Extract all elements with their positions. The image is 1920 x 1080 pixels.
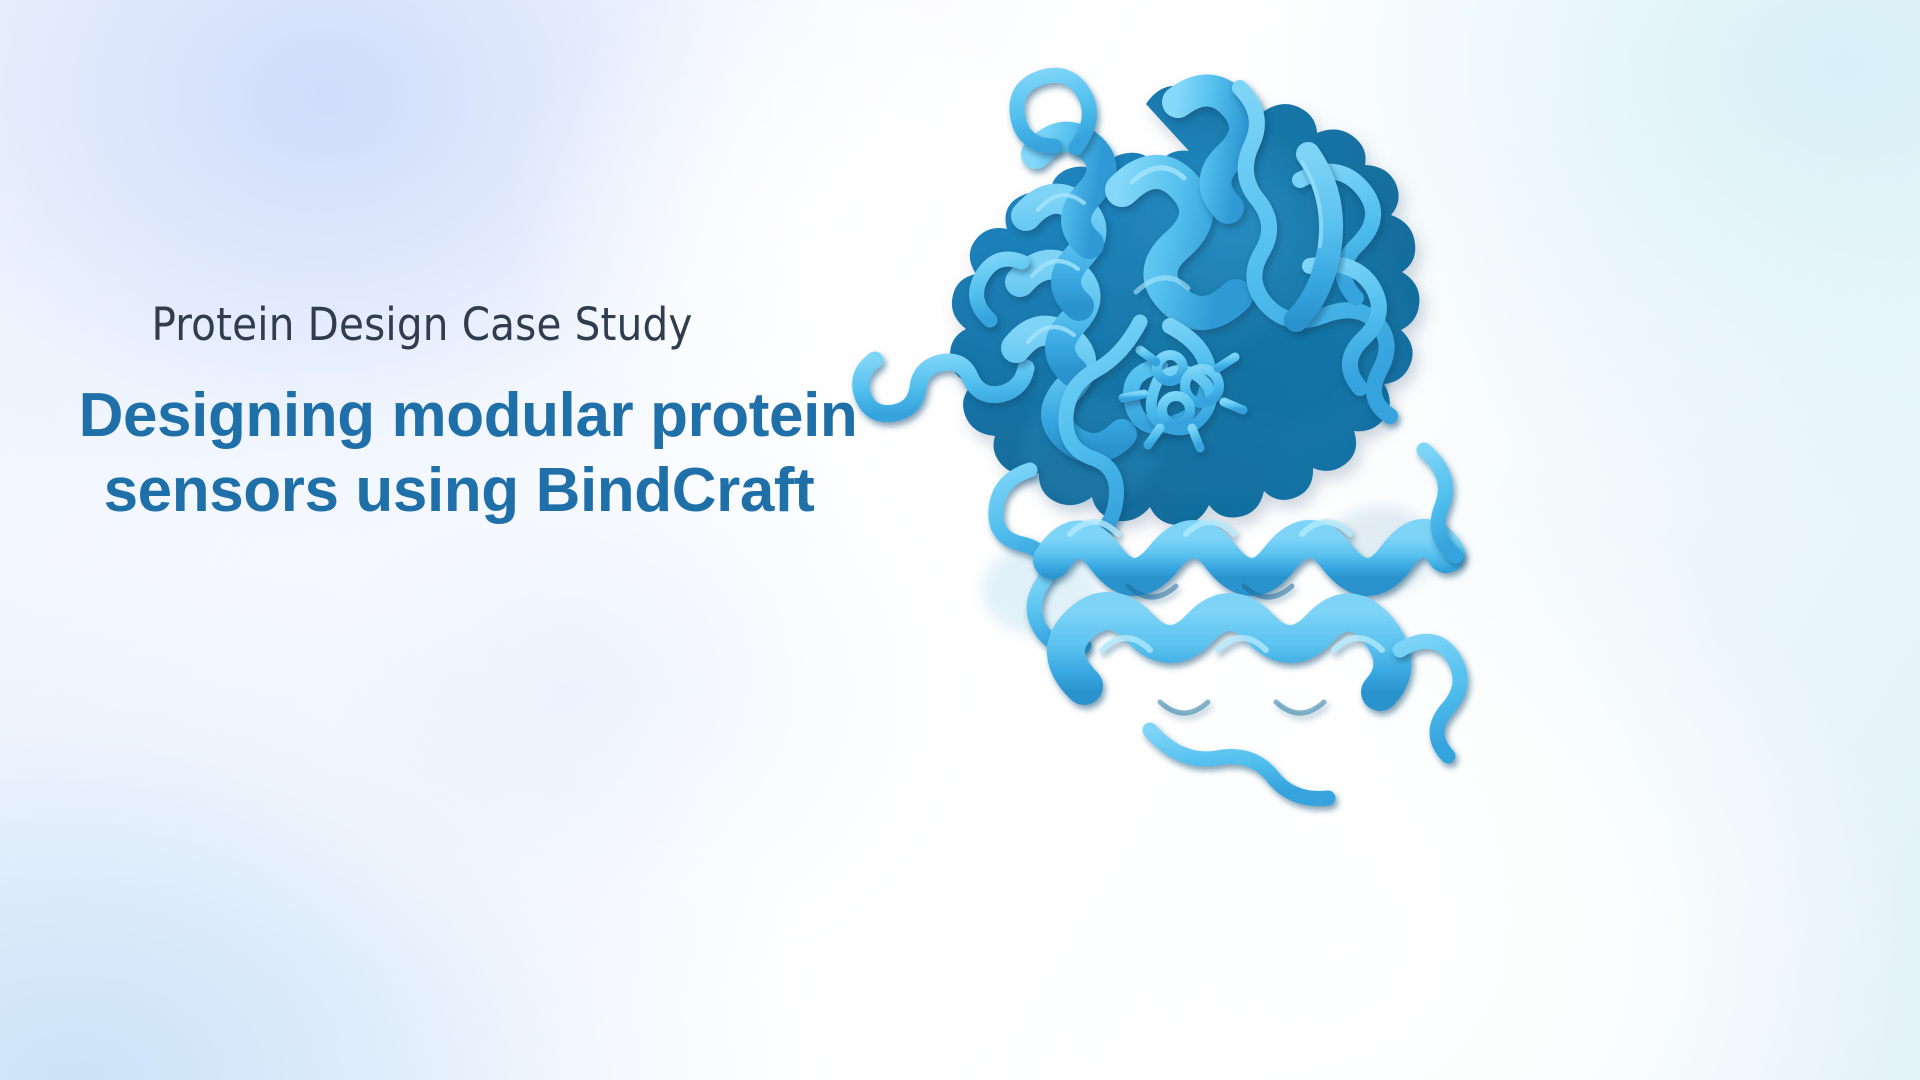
alpha-helix-ribbon-bottom (1066, 611, 1393, 713)
protein-structure-illustration (840, 30, 1540, 840)
page-title-line-1: Designing modular protein (56, 378, 880, 454)
eyebrow-label: Protein Design Case Study (56, 300, 900, 350)
headline-text-block: Protein Design Case Study Designing modu… (0, 300, 900, 529)
protein-structure-svg (840, 30, 1540, 840)
page-title-line-2: sensors using BindCraft (56, 453, 880, 529)
hero-banner: Protein Design Case Study Designing modu… (0, 0, 1920, 1080)
page-title: Designing modular protein sensors using … (56, 378, 900, 529)
